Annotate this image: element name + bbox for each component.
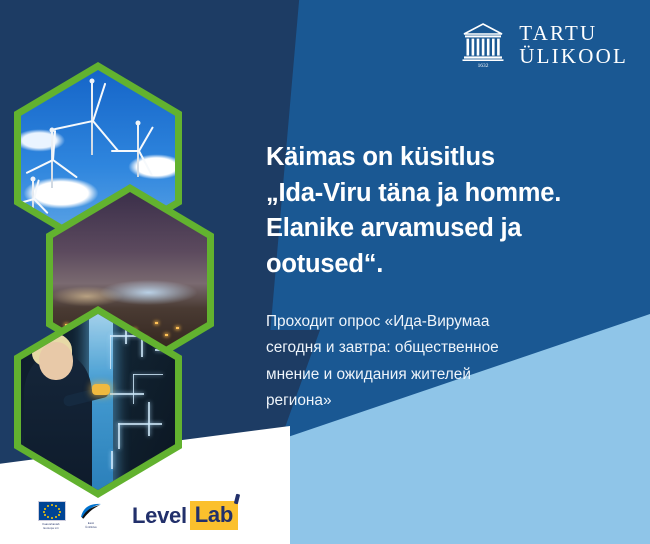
poster-canvas: 1632 TARTU ÜLIKOOL Käimas on küsitlus „I… [0,0,650,544]
person-head [39,342,73,380]
eu-caption-line-2: Euroopa Liit [43,527,58,530]
levellab-level-text: Level [132,503,187,529]
tech-night-background [21,314,175,490]
subcopy-line-4: региона» [266,388,632,414]
hexagon-collage [8,62,198,482]
ee-caption-line-2: Üntiliidus [85,526,97,529]
logo-line-tartu: TARTU [519,22,628,45]
headline-line-1: Käimas on küsitlus [266,140,632,176]
person-hand-touch [92,384,110,395]
headline-line-3: Elanike arvamused ja [266,211,632,247]
estonian-flag-emblem-icon [78,502,104,520]
headline-estonian: Käimas on küsitlus „Ida-Viru täna ja hom… [266,140,632,283]
headline-line-4: ootused“. [266,247,632,283]
classical-building-icon: 1632 [461,22,505,68]
levellab-lab-badge: Lab [190,501,238,530]
subcopy-line-1: Проходит опрос «Ида-Вирумаа [266,309,632,335]
subcopy-line-2: сегодня и завтра: общественное [266,335,632,361]
subcopy-line-3: мнение и ожидания жителей [266,362,632,388]
tartu-ulikool-wordmark: TARTU ÜLIKOOL [519,22,628,67]
levellab-logo: Level Lab [132,501,238,530]
founding-year-text: 1632 [478,63,489,68]
eu-funding-logo: Kaasrahastab Euroopa Liit [38,501,64,529]
tartu-ulikool-logo: 1632 TARTU ÜLIKOOL [461,22,628,68]
headline-line-2: „Ida-Viru täna ja homme. [266,176,632,212]
levellab-lab-text: Lab [195,502,233,527]
logo-line-ulikool: ÜLIKOOL [519,45,628,68]
estonia-logo: Eesti Üntiliidus [78,502,104,528]
eu-logo-caption: Kaasrahastab Euroopa Liit [38,523,64,529]
estonia-logo-caption: Eesti Üntiliidus [78,522,104,528]
hexagon-digital-display-photo [21,314,175,490]
text-block: Käimas on küsitlus „Ida-Viru täna ja hom… [266,140,632,415]
footer-logo-row: Kaasrahastab Euroopa Liit Eesti Üntiliid… [38,501,238,530]
subcopy-russian: Проходит опрос «Ида-Вирумаа сегодня и за… [266,309,632,415]
european-union-flag-icon [38,501,66,521]
